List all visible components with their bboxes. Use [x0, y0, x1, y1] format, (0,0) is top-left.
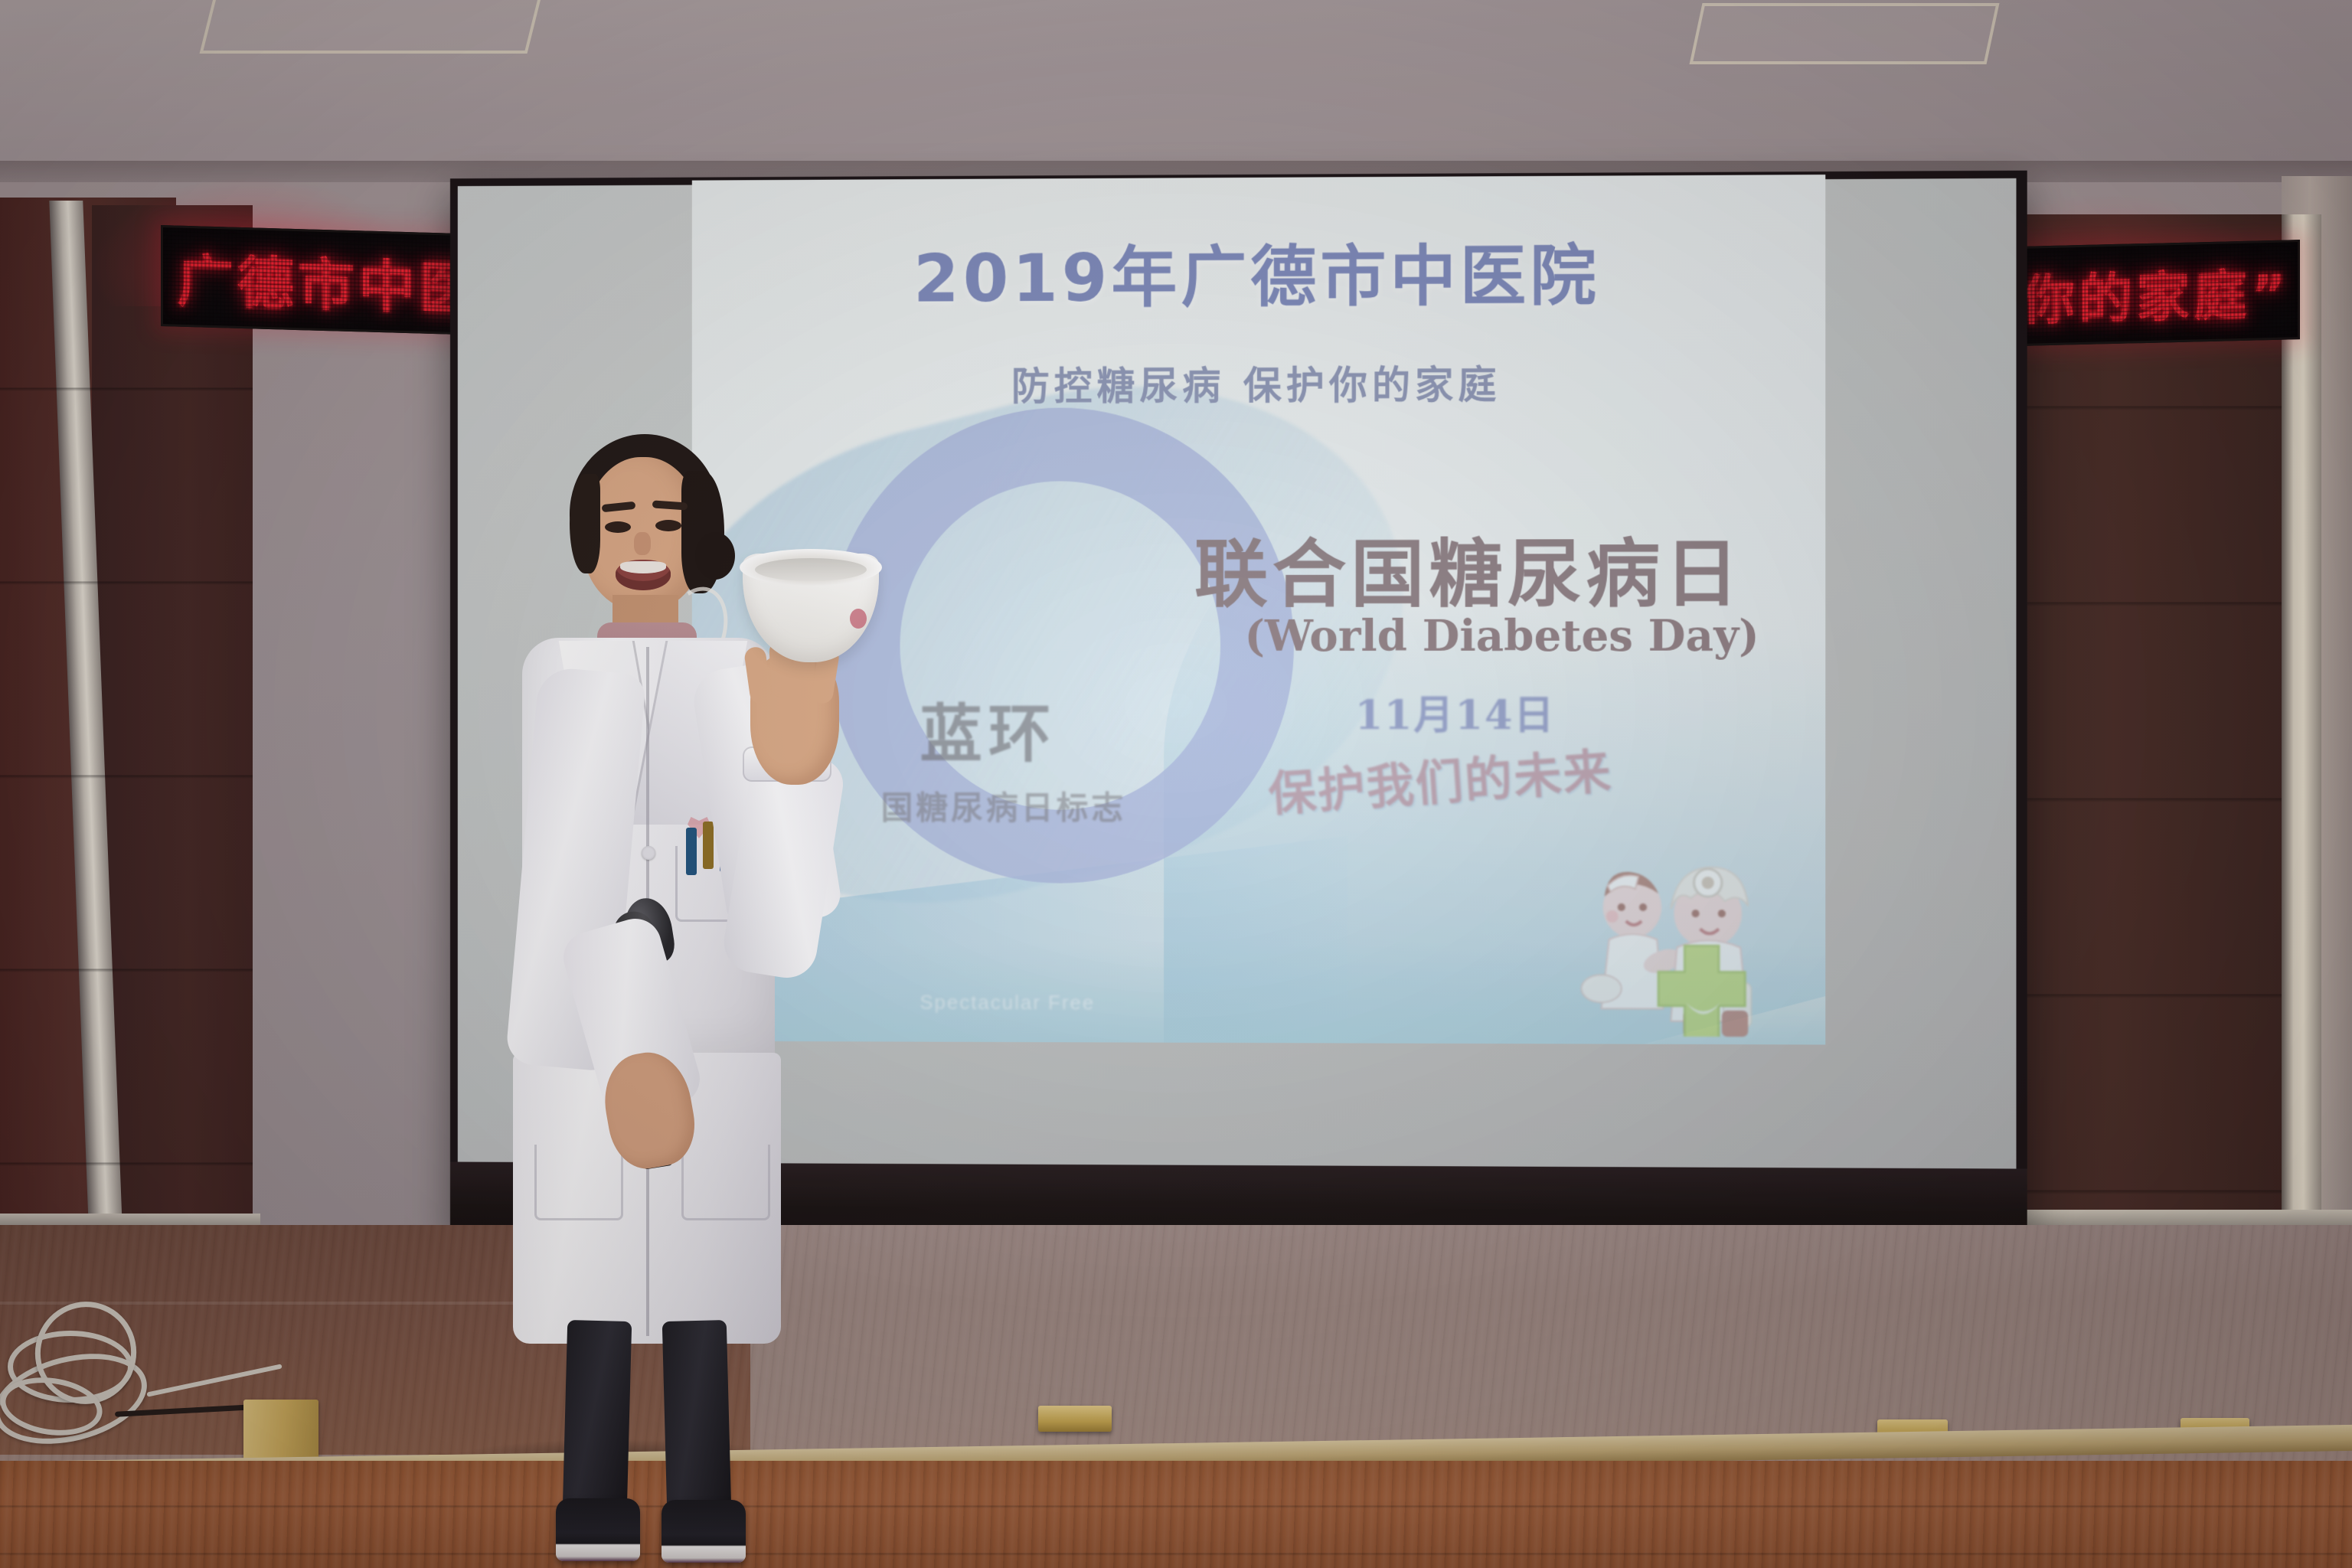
pen-icon-blue [686, 828, 697, 875]
led-sign-left-text: 广德市中医 [177, 235, 479, 325]
presenter [490, 417, 888, 1489]
slide-watermark: Spectacular Free [920, 991, 1347, 1016]
pen-icon-gold [703, 822, 714, 869]
lab-coat-side-pocket-right [681, 1145, 770, 1220]
slide-english-heading: (World Diabetes Day) [1194, 610, 1810, 661]
lab-coat-side-pocket-left [534, 1145, 623, 1220]
presenter-teeth [620, 561, 666, 573]
led-sign-right-text: ʴ你的家庭” [2001, 251, 2290, 335]
wall-trim-right-metal [2282, 214, 2321, 1225]
slide-subtitle: 防控糖尿病 保护你的家庭 [692, 353, 1825, 412]
lab-coat-button-1 [642, 846, 655, 860]
presenter-legs [565, 1321, 764, 1527]
presenter-eye-left [605, 521, 631, 533]
shoe-sole-right [661, 1547, 746, 1563]
presenter-nose [634, 532, 651, 555]
shoe-sole-left [556, 1546, 640, 1561]
presenter-leg-right [662, 1320, 732, 1513]
white-bowl-interior [755, 558, 867, 581]
lower-floor-grain [0, 1461, 2352, 1568]
wall-panel-right-seams [1991, 214, 2297, 1217]
presenter-shoe-right [661, 1500, 746, 1563]
slide-title: 2019年广德市中医院 [692, 220, 1825, 321]
wall-panel-left-seams [0, 198, 253, 1223]
presenter-shoe-left [556, 1498, 640, 1561]
led-sign-right: ʴ你的家庭” [1991, 240, 2300, 347]
photo-scene: 广德市中医 ʴ你的家庭” 2019年广德市中医院 防控糖尿病 保护你的家庭 蓝环… [0, 0, 2352, 1568]
ceiling-access-panel-left [200, 0, 542, 54]
presenter-eye-right [655, 520, 681, 531]
led-sign-left: 广德市中医 [161, 225, 487, 335]
floor-outlet-3[interactable] [1038, 1406, 1112, 1432]
presenter-hair-left [570, 474, 600, 573]
presenter-hair-bun [695, 532, 735, 580]
white-bowl-marking [850, 609, 867, 629]
ceiling-access-panel-right [1689, 3, 1999, 64]
slide-main-heading: 联合国糖尿病日 [1194, 514, 1779, 621]
nurse-doctor-cartoon-icon [1578, 860, 1771, 1037]
presenter-leg-left [563, 1320, 632, 1513]
